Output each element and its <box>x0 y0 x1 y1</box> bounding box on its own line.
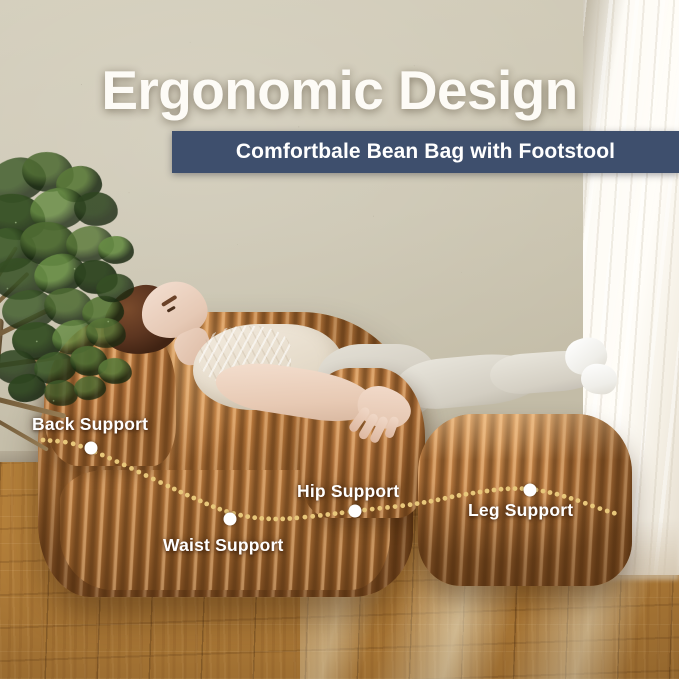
subtitle-banner: Comfortbale Bean Bag with Footstool <box>172 131 679 173</box>
support-label-hip: Hip Support <box>297 481 399 502</box>
support-marker-waist <box>224 513 237 526</box>
page-title: Ergonomic Design <box>0 58 679 122</box>
support-label-waist: Waist Support <box>163 535 284 556</box>
product-lifestyle-image: Back SupportWaist SupportHip SupportLeg … <box>0 0 679 679</box>
model-arm <box>212 356 378 428</box>
subtitle-text: Comfortbale Bean Bag with Footstool <box>236 140 615 164</box>
support-marker-leg <box>524 484 537 497</box>
support-marker-hip <box>349 505 362 518</box>
model-arm-group <box>95 272 595 442</box>
support-label-leg: Leg Support <box>468 500 573 521</box>
